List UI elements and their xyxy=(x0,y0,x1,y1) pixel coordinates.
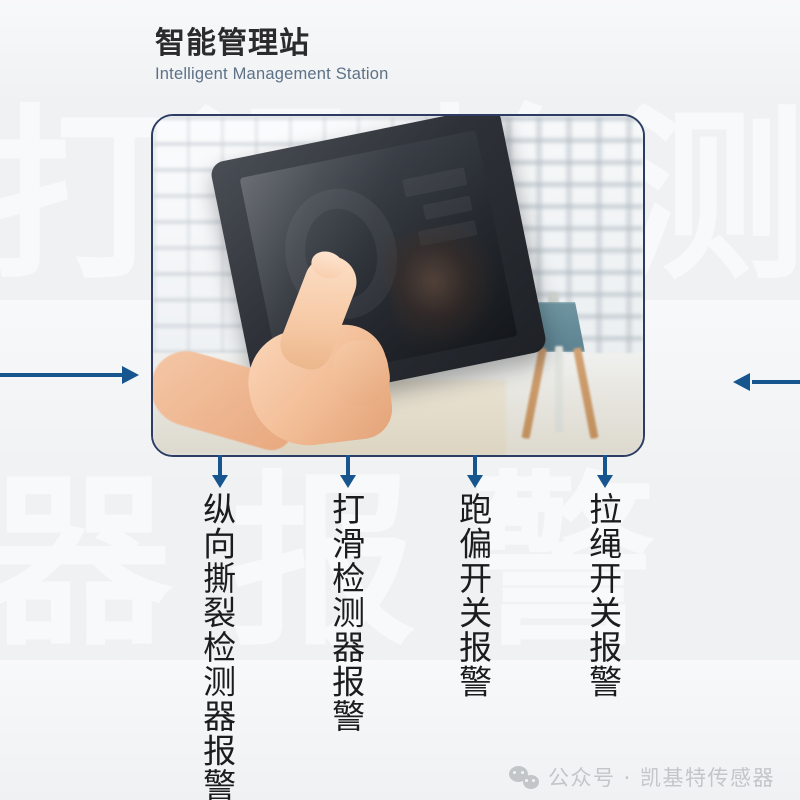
inbound-arrow-left-head xyxy=(122,366,139,384)
page-title: 智能管理站 xyxy=(155,26,388,61)
sensor-label-slip-detector: 打滑检测器报警 xyxy=(329,492,363,734)
inbound-arrow-left-line xyxy=(0,373,124,377)
footer-watermark-text: 公众号 · 凯基特传感器 xyxy=(548,762,775,792)
background-watermark-char: 测 xyxy=(620,104,800,290)
background-watermark-char: 报 xyxy=(230,470,416,656)
sensor-label-belt-deviation-switch: 跑偏开关报警 xyxy=(456,492,490,699)
inbound-arrow-right-head xyxy=(733,373,750,391)
lamp-leg-center xyxy=(555,346,563,432)
poster-root: 打 滑 检 测 器 报 警 智能管理站 Intelligent Manageme… xyxy=(0,0,800,800)
inbound-arrow-right-line xyxy=(752,380,800,384)
sensor-label-longitudinal-tear: 纵向撕裂检测器报警 xyxy=(200,492,234,800)
wechat-icon xyxy=(509,765,539,789)
header: 智能管理站 Intelligent Management Station xyxy=(155,26,388,84)
background-watermark-char: 警 xyxy=(470,470,656,656)
tablet-photo xyxy=(153,116,643,455)
footer-watermark: 公众号 · 凯基特传感器 xyxy=(509,762,775,792)
background-watermark-char: 器 xyxy=(0,470,172,656)
sensor-label-pull-cord-switch: 拉绳开关报警 xyxy=(586,492,620,699)
page-subtitle: Intelligent Management Station xyxy=(155,65,388,84)
background-watermark-char: 打 xyxy=(0,104,172,290)
hand xyxy=(183,244,413,455)
photo-card xyxy=(151,114,645,457)
